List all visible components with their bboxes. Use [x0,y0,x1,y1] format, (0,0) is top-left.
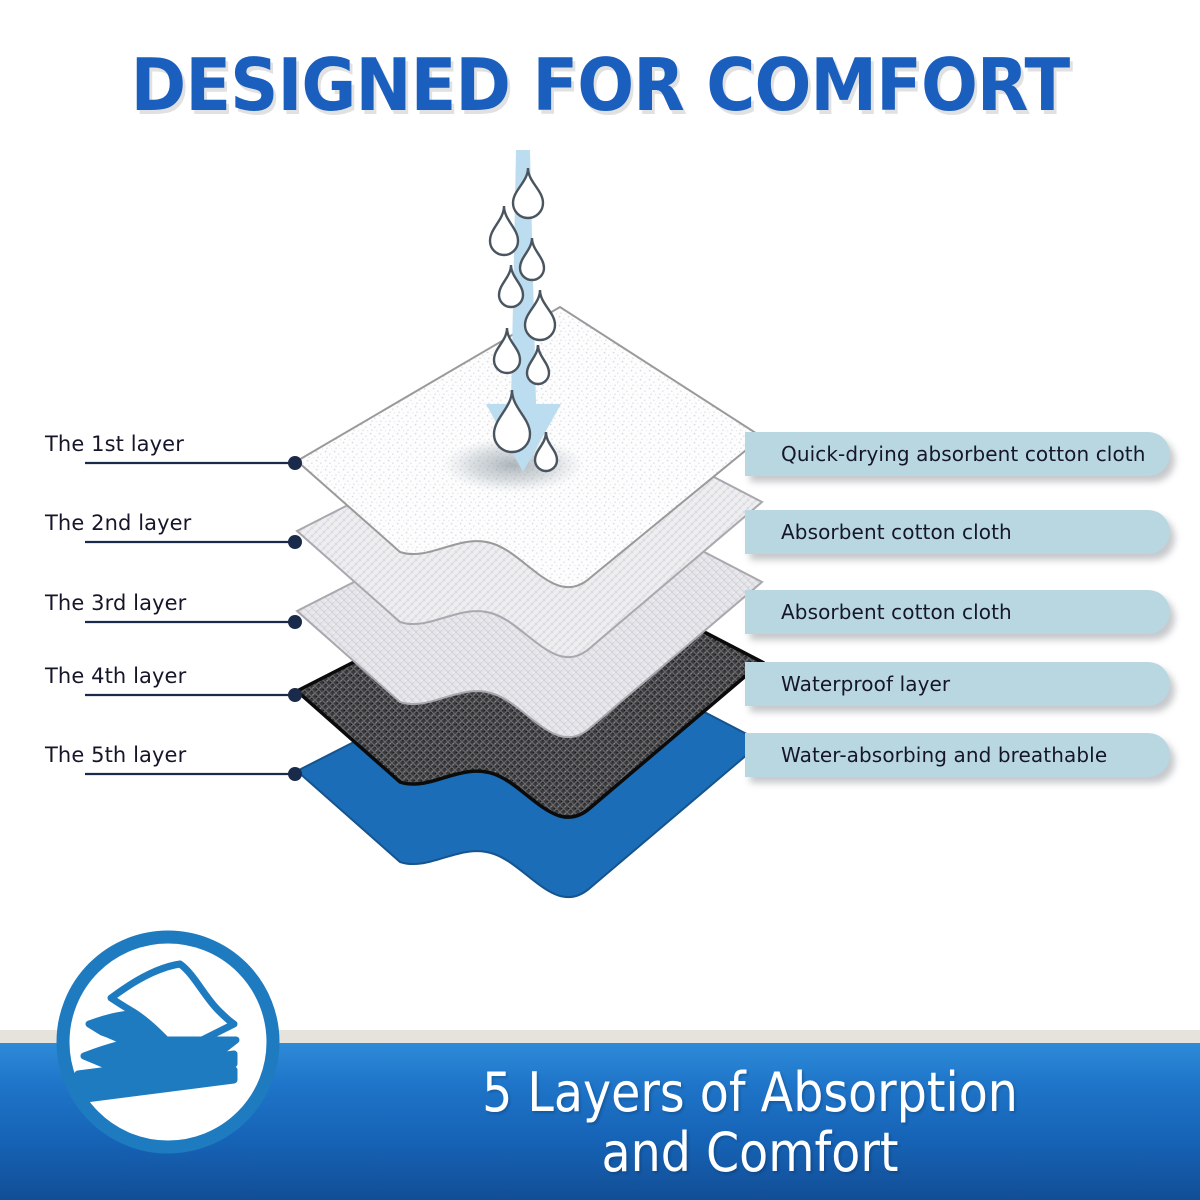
left-label-layer-2: The 2nd layer [45,511,191,535]
leader-dot-1 [288,456,302,470]
left-label-layer-1: The 1st layer [45,432,184,456]
water-droplet [490,206,518,255]
leader-lines [85,463,292,774]
footer-banner-line2: and Comfort [601,1123,898,1183]
right-pill-layer-1[interactable]: Quick-drying absorbent cotton cloth [745,432,1170,476]
leader-dot-2 [288,535,302,549]
layer-diagram: The 1st layer The 2nd layer The 3rd laye… [0,0,1200,1040]
stacked-layers-badge [48,922,288,1162]
right-pill-label-1: Quick-drying absorbent cotton cloth [781,442,1146,466]
left-label-layer-3: The 3rd layer [45,591,186,615]
right-pill-layer-3[interactable]: Absorbent cotton cloth [745,590,1170,634]
right-pill-label-4: Waterproof layer [781,672,950,696]
right-pill-layer-5[interactable]: Water-absorbing and breathable [745,733,1170,777]
right-pill-label-5: Water-absorbing and breathable [781,743,1107,767]
right-pill-label-2: Absorbent cotton cloth [781,520,1012,544]
footer-banner-text: 5 Layers of Absorption and Comfort [354,1052,1146,1194]
right-pill-label-3: Absorbent cotton cloth [781,600,1012,624]
leader-dot-5 [288,767,302,781]
leader-dot-3 [288,615,302,629]
footer-banner-line1: 5 Layers of Absorption [482,1063,1018,1123]
leader-dot-4 [288,688,302,702]
left-label-layer-4: The 4th layer [45,664,186,688]
leader-dots [288,456,302,781]
left-label-layer-5: The 5th layer [45,743,186,767]
right-pill-layer-2[interactable]: Absorbent cotton cloth [745,510,1170,554]
right-pill-layer-4[interactable]: Waterproof layer [745,662,1170,706]
